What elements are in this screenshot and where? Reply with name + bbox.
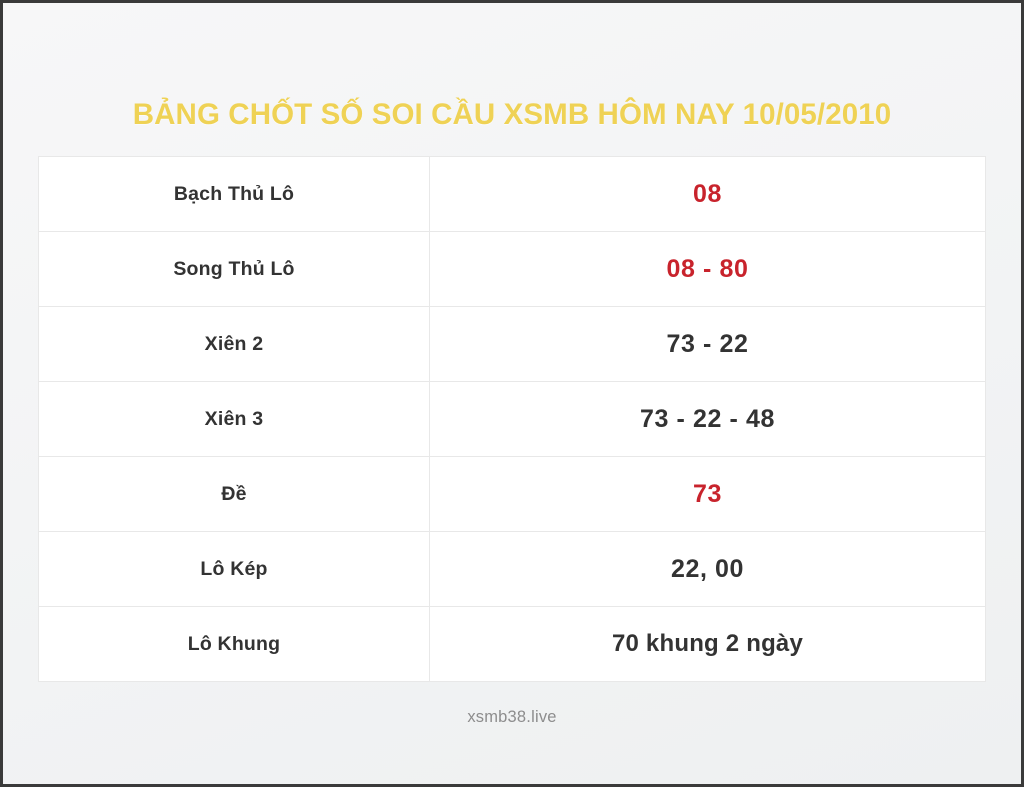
row-label: Xiên 2 [39, 307, 430, 382]
table-row: Đề73 [39, 457, 986, 532]
row-value: 73 - 22 - 48 [430, 382, 986, 457]
row-label: Bạch Thủ Lô [39, 157, 430, 232]
site-watermark: xsmb38.live [467, 708, 556, 726]
table-row: Xiên 373 - 22 - 48 [39, 382, 986, 457]
footer-container: xsmb38.live [3, 708, 1021, 727]
soicau-table-container: Bạch Thủ Lô08Song Thủ Lô08 - 80Xiên 273 … [38, 156, 986, 682]
table-row: Xiên 273 - 22 [39, 307, 986, 382]
row-label: Lô Kép [39, 532, 430, 607]
row-value: 73 - 22 [430, 307, 986, 382]
row-value: 08 [430, 157, 986, 232]
row-label: Xiên 3 [39, 382, 430, 457]
row-value: 08 - 80 [430, 232, 986, 307]
soicau-table-body: Bạch Thủ Lô08Song Thủ Lô08 - 80Xiên 273 … [39, 157, 986, 682]
row-label: Lô Khung [39, 607, 430, 682]
row-value: 22, 00 [430, 532, 986, 607]
table-row: Bạch Thủ Lô08 [39, 157, 986, 232]
page-frame: BẢNG CHỐT SỐ SOI CẦU XSMB HÔM NAY 10/05/… [3, 3, 1021, 784]
row-value: 70 khung 2 ngày [430, 607, 986, 682]
row-label: Đề [39, 457, 430, 532]
table-row: Song Thủ Lô08 - 80 [39, 232, 986, 307]
table-row: Lô Khung70 khung 2 ngày [39, 607, 986, 682]
table-row: Lô Kép22, 00 [39, 532, 986, 607]
row-label: Song Thủ Lô [39, 232, 430, 307]
title-container: BẢNG CHỐT SỐ SOI CẦU XSMB HÔM NAY 10/05/… [3, 77, 1021, 123]
row-value: 73 [430, 457, 986, 532]
page-title: BẢNG CHỐT SỐ SOI CẦU XSMB HÔM NAY 10/05/… [133, 97, 892, 132]
soicau-table: Bạch Thủ Lô08Song Thủ Lô08 - 80Xiên 273 … [38, 156, 986, 682]
